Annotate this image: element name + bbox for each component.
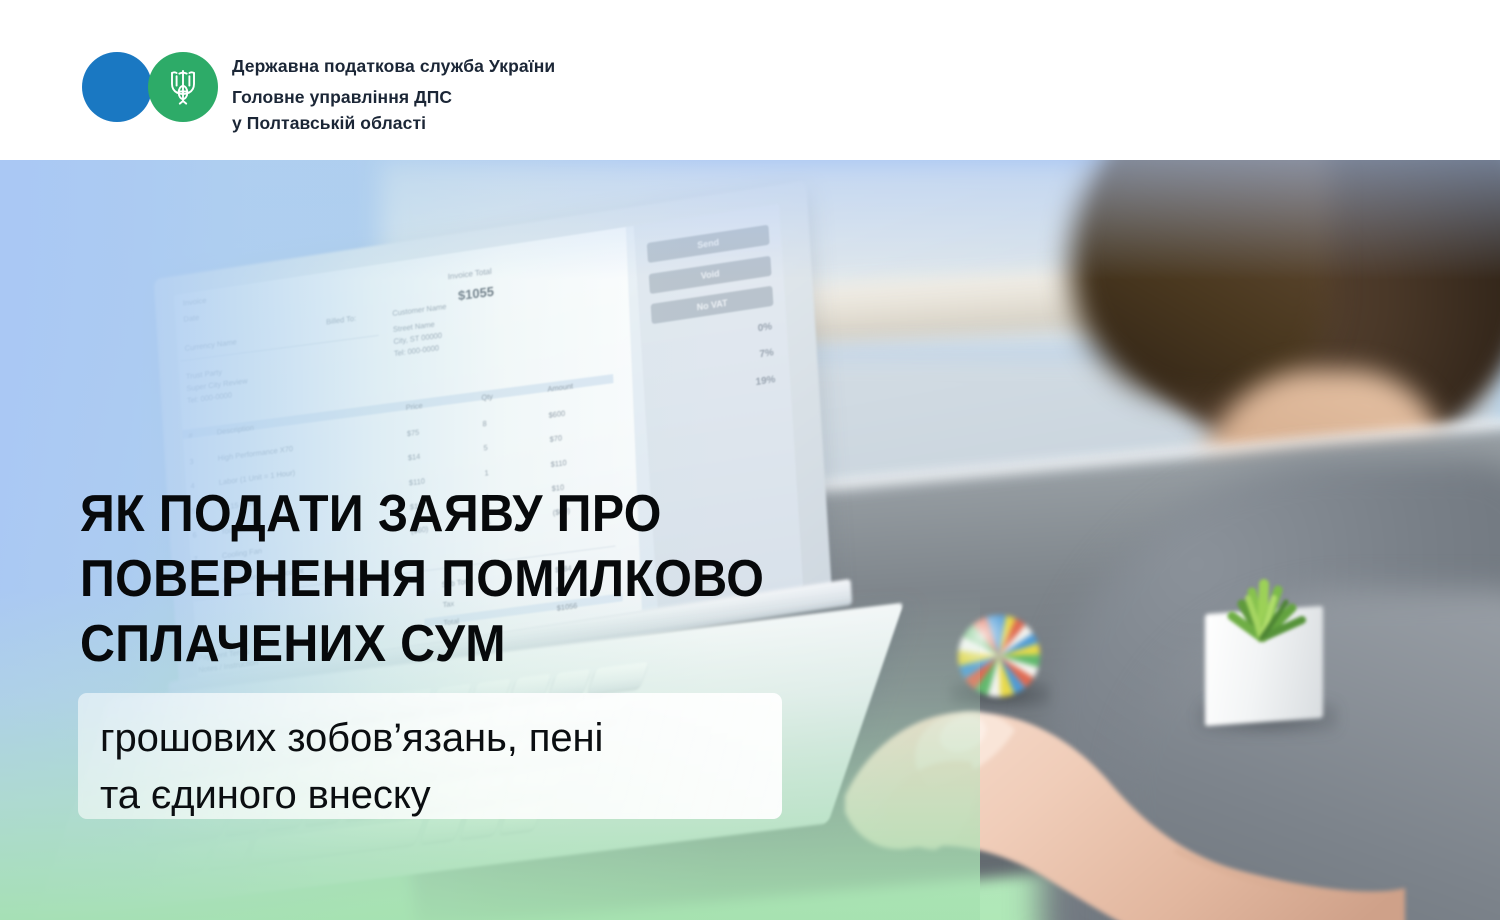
- page-title: ЯК ПОДАТИ ЗАЯВУ ПРО ПОВЕРНЕННЯ ПОМИЛКОВО…: [80, 482, 960, 677]
- site-header: Державна податкова служба України Головн…: [0, 0, 1500, 160]
- logo-marks: [82, 52, 218, 124]
- banner-stage: Invoice Date Currency Name Trust Party S…: [0, 160, 1500, 920]
- org-name-line-3: у Полтавській області: [232, 110, 555, 136]
- headline-line-3: СПЛАЧЕНИХ СУМ: [80, 612, 898, 677]
- subtitle-line-2: та єдиного внеску: [100, 767, 603, 824]
- headline-line-2: ПОВЕРНЕННЯ ПОМИЛКОВО: [80, 547, 898, 612]
- subtitle-line-1: грошових зобов’язань, пені: [100, 710, 603, 767]
- blue-circle-icon: [82, 52, 152, 122]
- org-name-line-2: Головне управління ДПС: [232, 84, 555, 110]
- screen-vat-rate-19: 19%: [755, 374, 775, 388]
- screen-vat-rate-7: 7%: [759, 348, 774, 361]
- succulent-plant-object: [1202, 568, 1322, 642]
- ukrainian-trident-icon: [148, 52, 218, 122]
- organization-name-block: Державна податкова служба України Головн…: [232, 52, 555, 136]
- org-name-line-1: Державна податкова служба України: [232, 53, 555, 79]
- subtitle-panel: грошових зобов’язань, пені та єдиного вн…: [78, 693, 782, 819]
- headline-line-1: ЯК ПОДАТИ ЗАЯВУ ПРО: [80, 482, 898, 547]
- poster-canvas: Державна податкова служба України Головн…: [0, 0, 1500, 920]
- organization-logo-lockup[interactable]: Державна податкова служба України Головн…: [82, 52, 555, 136]
- screen-vat-rate-0: 0%: [757, 321, 772, 334]
- subtitle-text: грошових зобов’язань, пені та єдиного вн…: [100, 710, 603, 824]
